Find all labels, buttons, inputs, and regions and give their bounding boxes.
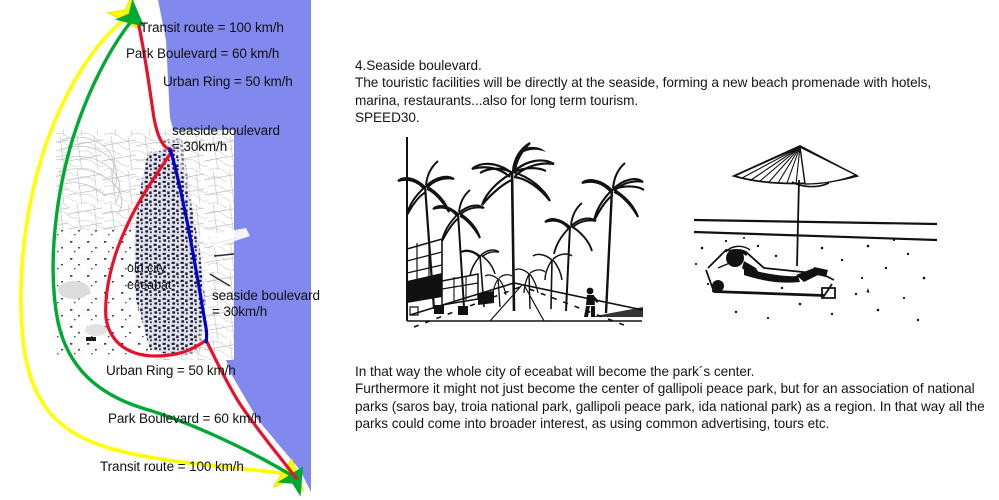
topographic-map-raster [56,130,250,360]
beach-umbrella-sunbather-sketch [672,128,939,331]
label-urban-ring-top: Urban Ring = 50 km/h [163,74,293,90]
speed-note: SPEED30. [355,109,999,126]
bottom-text-block: In that way the whole city of eceabat wi… [355,363,993,433]
map-label-old-city: old city eceabat [127,260,171,294]
palm-promenade-sketch [394,131,645,330]
old-city-line-1: old city [127,261,166,275]
label-seaside-boulevard-top: seaside boulevard = 30km/h [172,123,307,155]
label-urban-ring-bottom: Urban Ring = 50 km/h [106,363,236,379]
paragraph-top-line-1: The touristic facilities will be directl… [355,74,999,91]
label-transit-route-top: Transit route = 100 km/h [140,20,284,36]
label-seaside-top-line1: seaside boulevard [172,123,280,138]
map-panel: old city eceabat Transit route = 100 km/… [0,0,340,500]
paragraph-bottom-line-2: Furthermore it might not just become the… [355,380,993,432]
label-seaside-top-line2: = 30km/h [172,139,227,154]
slide-page: old city eceabat Transit route = 100 km/… [0,0,999,500]
label-park-boulevard-bottom: Park Boulevard = 60 km/h [108,411,261,427]
top-text-block: 4.Seaside boulevard. The touristic facil… [355,57,999,127]
section-heading: 4.Seaside boulevard. [355,57,999,74]
content-panel: 4.Seaside boulevard. The touristic facil… [340,0,999,500]
label-seaside-bottom-line1: seaside boulevard [212,288,320,303]
label-seaside-boulevard-bottom: seaside boulevard = 30km/h [212,288,340,320]
paragraph-bottom-line-1: In that way the whole city of eceabat wi… [355,363,993,380]
label-seaside-bottom-line2: = 30km/h [212,304,267,319]
label-park-boulevard-top: Park Boulevard = 60 km/h [126,46,279,62]
paragraph-top-line-2: marina, restaurants...also for long term… [355,92,999,109]
old-city-line-2: eceabat [127,278,171,292]
label-transit-route-bottom: Transit route = 100 km/h [100,459,244,475]
